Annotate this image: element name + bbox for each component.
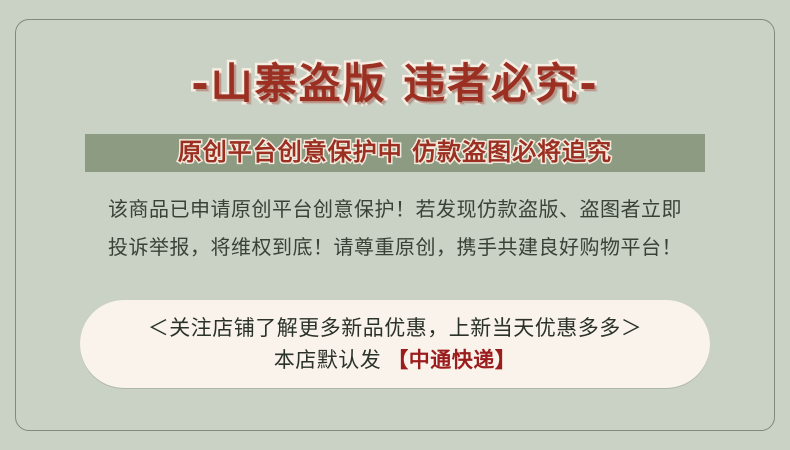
copyright-notice-banner: -山寨盗版 违者必究- 原创平台创意保护中 仿款盗图必将追究 该商品已申请原创平… bbox=[0, 0, 790, 450]
body-paragraph: 该商品已申请原创平台创意保护！若发现仿款盗版、盗图者立即 投诉举报，将维权到底！… bbox=[0, 190, 790, 266]
promo-follow-shop-text: ＜关注店铺了解更多新品优惠，上新当天优惠多多＞ bbox=[148, 314, 643, 342]
body-line-1: 该商品已申请原创平台创意保护！若发现仿款盗版、盗图者立即 bbox=[0, 190, 790, 228]
promo-pill-box: ＜关注店铺了解更多新品优惠，上新当天优惠多多＞ 本店默认发【中通快递】 bbox=[80, 300, 710, 388]
headline-container: -山寨盗版 违者必究- bbox=[0, 62, 790, 106]
promo-courier-name: 【中通快递】 bbox=[387, 348, 516, 372]
headline-anti-counterfeit: -山寨盗版 违者必究- bbox=[191, 62, 599, 106]
green-band: 原创平台创意保护中 仿款盗图必将追究 bbox=[85, 134, 705, 172]
subbanner-original-platform-protection: 原创平台创意保护中 仿款盗图必将追究 bbox=[178, 138, 612, 166]
promo-shipping-prefix: 本店默认发 bbox=[274, 348, 382, 372]
promo-shipping-line: 本店默认发【中通快递】 bbox=[274, 346, 517, 374]
body-line-2: 投诉举报，将维权到底！请尊重原创，携手共建良好购物平台！ bbox=[0, 228, 790, 266]
subbanner-container: 原创平台创意保护中 仿款盗图必将追究 bbox=[0, 134, 790, 172]
